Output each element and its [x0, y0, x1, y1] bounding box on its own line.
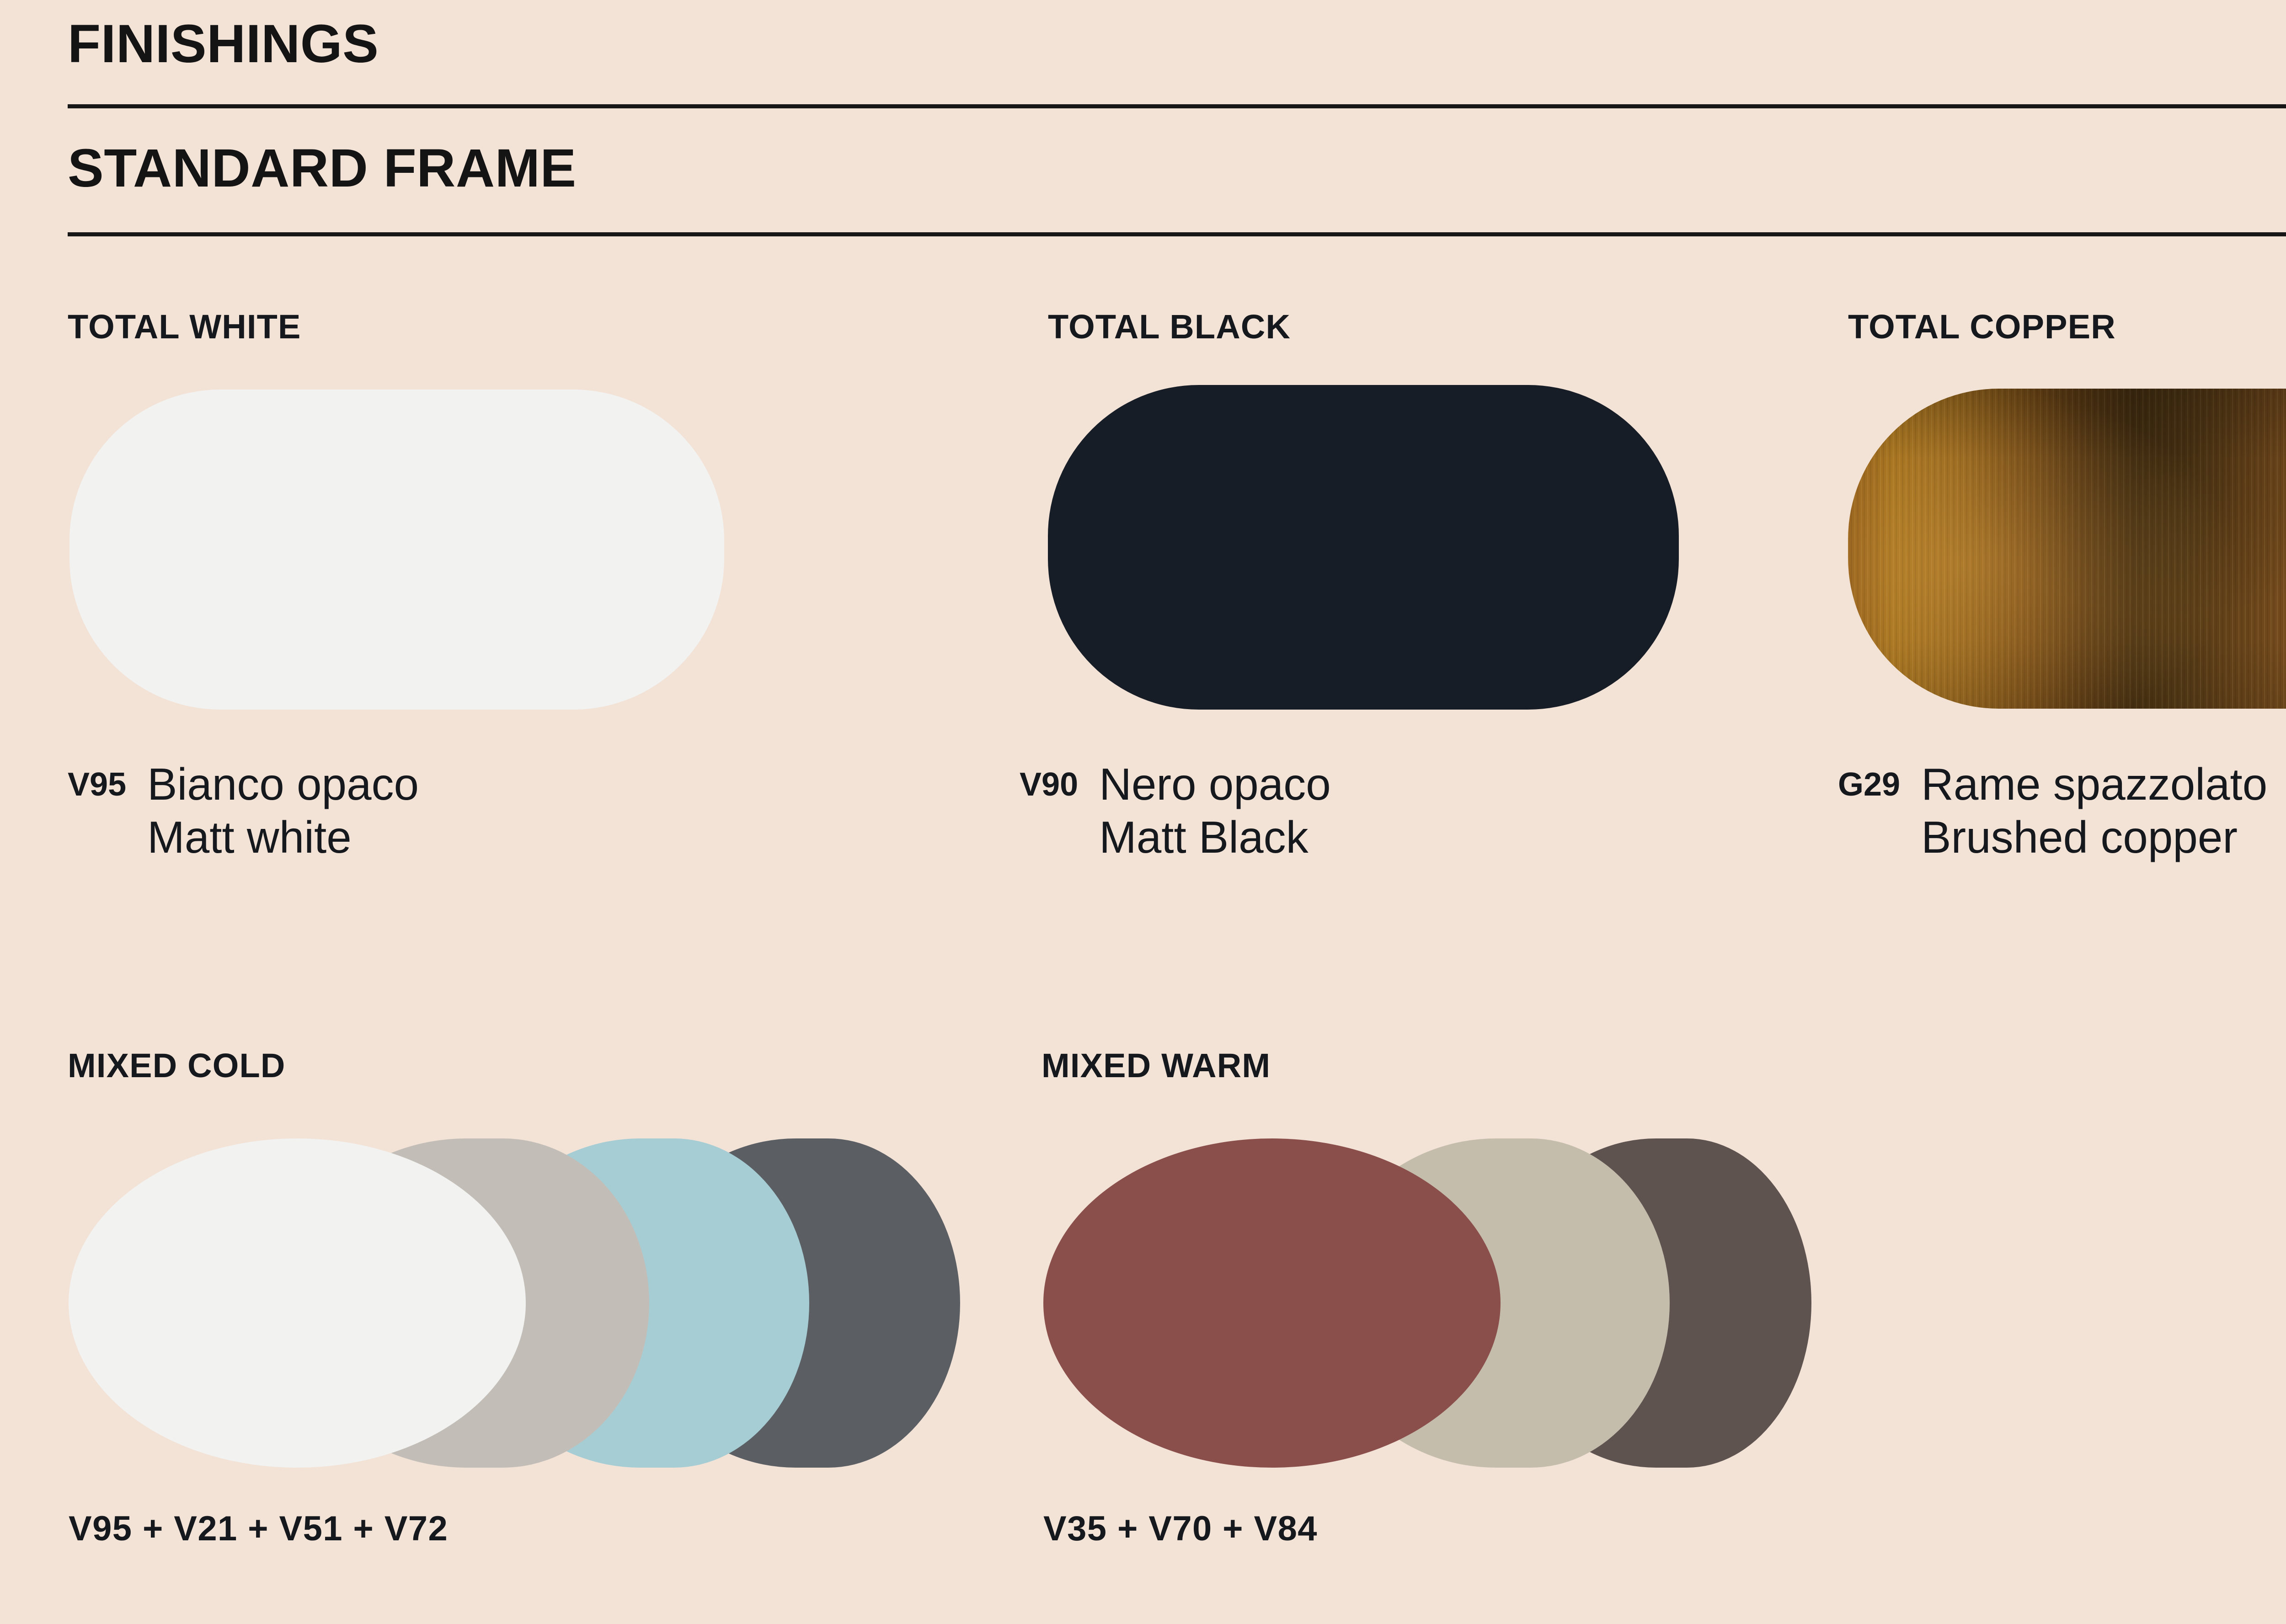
swatch-stack-mixed-warm[interactable]: [1043, 1138, 1821, 1468]
swatch-code-g29: G29: [1838, 758, 1900, 801]
swatch-combo-label-mixed-cold: V95 + V21 + V51 + V72: [69, 1509, 448, 1549]
title-divider: [68, 104, 2286, 108]
section-title-standard-frame: STANDARD FRAME: [68, 137, 577, 199]
swatch-name-en-v90: Matt Black: [1099, 812, 1308, 862]
swatch-mixed-warm-v35: [1043, 1138, 1501, 1468]
swatch-group-label-total-white: TOTAL WHITE: [68, 307, 301, 346]
swatch-caption-total-black: V90 Nero opaco Matt Black: [1020, 758, 1331, 864]
swatch-total-white[interactable]: [69, 390, 724, 710]
swatch-total-copper[interactable]: [1848, 389, 2286, 709]
swatch-name-it-v90: Nero opaco: [1099, 759, 1331, 809]
swatch-name-it-v95: Bianco opaco: [147, 759, 419, 809]
section-divider: [68, 232, 2286, 236]
swatch-code-v95: V95: [68, 758, 126, 801]
swatch-caption-total-copper: G29 Rame spazzolato Brushed copper: [1838, 758, 2267, 864]
swatch-mixed-cold-v95: [69, 1138, 526, 1468]
swatch-combo-label-mixed-warm: V35 + V70 + V84: [1043, 1509, 1318, 1549]
swatch-name-en-v95: Matt white: [147, 812, 352, 862]
swatch-group-label-total-black: TOTAL BLACK: [1048, 307, 1291, 346]
swatch-total-black[interactable]: [1048, 385, 1679, 710]
swatch-name-en-g29: Brushed copper: [1921, 812, 2238, 862]
swatch-caption-total-white: V95 Bianco opaco Matt white: [68, 758, 419, 864]
swatch-group-label-total-copper: TOTAL COPPER: [1848, 307, 2116, 346]
swatch-group-label-mixed-cold: MIXED COLD: [68, 1046, 286, 1085]
swatch-code-v90: V90: [1020, 758, 1078, 801]
swatch-name-it-g29: Rame spazzolato: [1921, 759, 2267, 809]
page-title: FINISHINGS: [68, 13, 379, 75]
swatch-stack-mixed-cold[interactable]: [69, 1138, 983, 1468]
swatch-group-label-mixed-warm: MIXED WARM: [1042, 1046, 1271, 1085]
